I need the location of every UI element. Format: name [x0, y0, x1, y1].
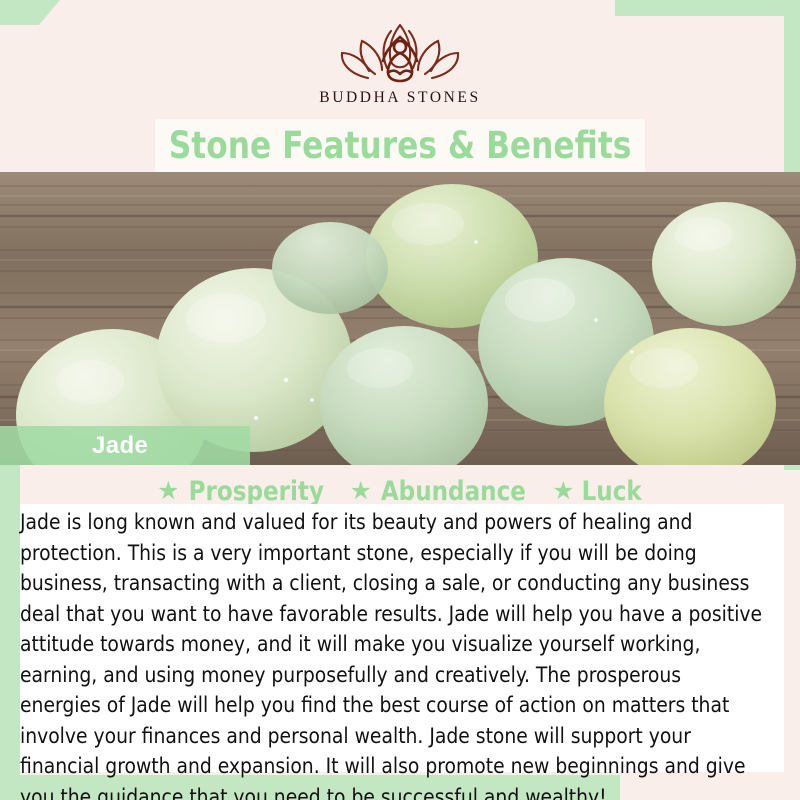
lotus-meditation-icon	[335, 22, 465, 84]
description-wrap: Jade is long known and valued for its be…	[20, 508, 785, 800]
stone-name-band: Jade	[0, 426, 250, 465]
stone-photo	[0, 172, 800, 465]
keyword-item-0: ★Prosperity	[157, 478, 327, 505]
page-title: Stone Features & Benefits	[169, 127, 632, 164]
section-title-band: Stone Features & Benefits	[155, 119, 645, 172]
description-text: Jade is long known and valued for its be…	[20, 508, 762, 800]
keyword-label: Prosperity	[188, 478, 323, 505]
keyword-label: Luck	[581, 478, 641, 505]
stone-name: Jade	[92, 434, 148, 458]
keyword-item-2: ★Luck	[552, 478, 643, 505]
keyword-list: ★Prosperity ★Abundance ★Luck	[0, 478, 800, 505]
stone-info-poster: BUDDHA STONES Stone Features & Benefits	[0, 0, 800, 800]
star-icon: ★	[350, 479, 372, 504]
brand-name: BUDDHA STONES	[319, 89, 480, 107]
star-icon: ★	[157, 479, 179, 504]
brand-header: BUDDHA STONES	[0, 0, 800, 118]
keyword-item-1: ★Abundance	[350, 478, 530, 505]
star-icon: ★	[552, 479, 574, 504]
keyword-label: Abundance	[381, 478, 526, 505]
